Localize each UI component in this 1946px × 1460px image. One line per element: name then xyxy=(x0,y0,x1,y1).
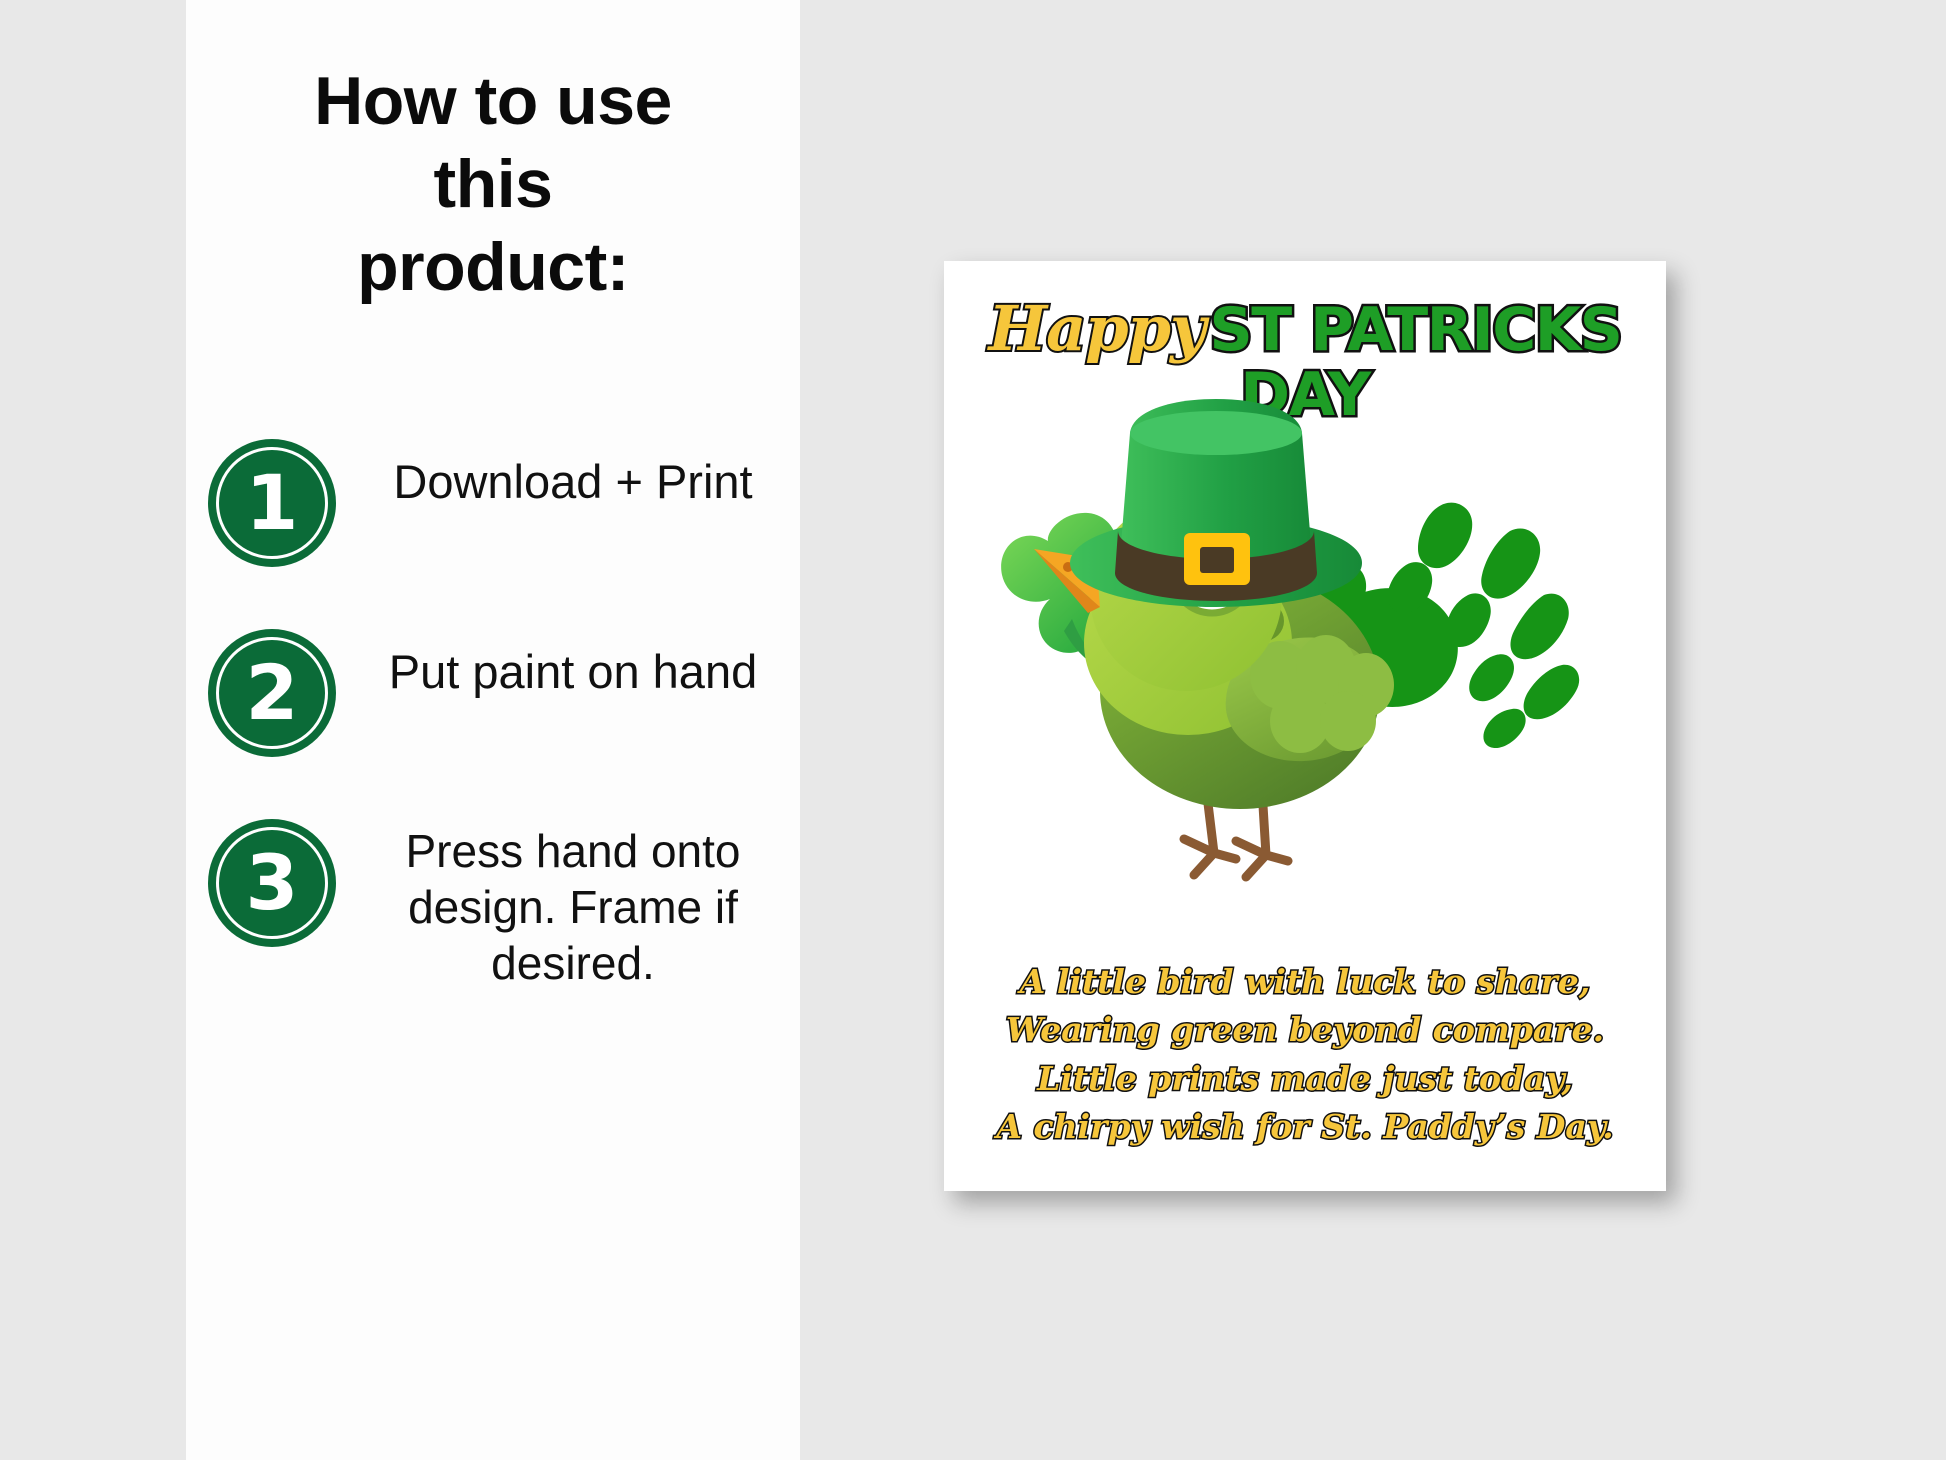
poem-line-3: Little prints made just today, xyxy=(944,1055,1666,1103)
poem-line-1: A little bird with luck to share, xyxy=(944,958,1666,1006)
poem-line-4: A chirpy wish for St. Paddy’s Day. xyxy=(944,1103,1666,1151)
poster-preview-card: Happy ST PATRICKS DAY xyxy=(944,261,1666,1191)
page-title: How to use this product: xyxy=(258,60,728,309)
step-text-2: Put paint on hand xyxy=(358,629,800,700)
step-text-3: Press hand onto design. Frame if desired… xyxy=(358,819,800,991)
step-number-3: 3 xyxy=(246,845,299,921)
poster-poem: A little bird with luck to share, Wearin… xyxy=(944,958,1666,1151)
step-badge-3: 3 xyxy=(208,819,336,947)
step-badge-1: 1 xyxy=(208,439,336,567)
instructions-panel: How to use this product: 1 Download + Pr… xyxy=(186,0,800,1460)
poster-heading-happy: Happy xyxy=(989,292,1205,365)
step-number-2: 2 xyxy=(246,655,299,731)
poem-line-2: Wearing green beyond compare. xyxy=(944,1006,1666,1054)
step-badge-2: 2 xyxy=(208,629,336,757)
page-title-line-1: How to use xyxy=(258,60,728,143)
step-item-3: 3 Press hand onto design. Frame if desir… xyxy=(186,819,800,991)
poster-artwork xyxy=(944,391,1666,911)
step-number-1: 1 xyxy=(246,465,299,541)
step-item-1: 1 Download + Print xyxy=(186,439,800,567)
poster-heading-stpatricks: ST PATRICKS xyxy=(1209,295,1621,365)
page-title-line-2: this xyxy=(258,143,728,226)
step-item-2: 2 Put paint on hand xyxy=(186,629,800,757)
steps-list: 1 Download + Print 2 Put paint on hand 3… xyxy=(186,439,800,991)
step-text-1: Download + Print xyxy=(358,439,800,510)
page-title-line-3: product: xyxy=(258,226,728,309)
leprechaun-hat-icon xyxy=(1070,399,1362,607)
